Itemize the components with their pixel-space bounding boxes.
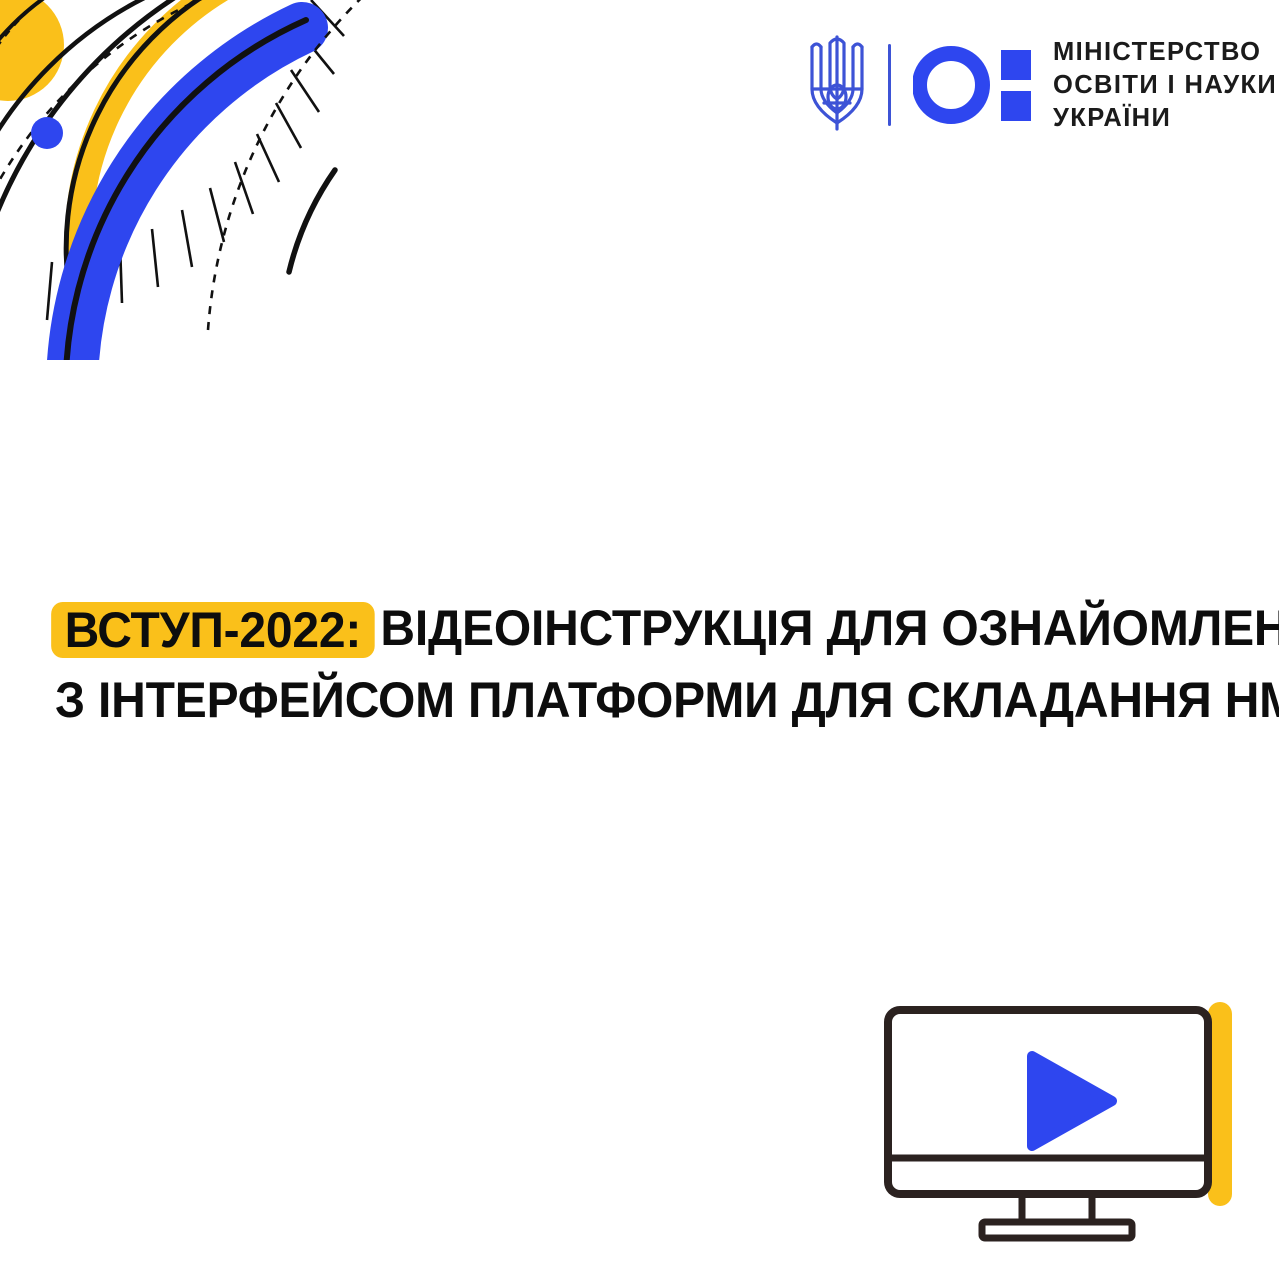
dashed-arc-outer bbox=[208, 0, 392, 330]
poster-canvas: МІНІСТЕРСТВО ОСВІТИ І НАУКИ УКРАЇНИ ВСТУ… bbox=[0, 0, 1279, 1280]
yellow-circle bbox=[0, 0, 64, 101]
blue-dot bbox=[31, 117, 63, 149]
dashed-arc-inner bbox=[0, 0, 172, 166]
headline-line-1-rest: ВІДЕОІНСТРУКЦІЯ ДЛЯ ОЗНАЙОМЛЕННЯ bbox=[380, 600, 1279, 656]
mark-ring bbox=[920, 54, 983, 117]
thin-arc-3 bbox=[0, 0, 190, 360]
logo-divider bbox=[888, 44, 891, 126]
thin-arc-over-yellow bbox=[66, 0, 244, 316]
thin-arc-2 bbox=[0, 0, 312, 330]
dashed-arc-middle bbox=[0, 0, 352, 360]
monitor-stand bbox=[982, 1222, 1132, 1238]
blue-thick-arc bbox=[72, 28, 302, 360]
mark-square-top bbox=[1001, 50, 1031, 80]
mark-square-bottom bbox=[1001, 91, 1031, 121]
ministry-line-3: УКРАЇНИ bbox=[1053, 102, 1277, 135]
headline-line-1: ВСТУП-2022:ВІДЕОІНСТРУКЦІЯ ДЛЯ ОЗНАЙОМЛЕ… bbox=[55, 592, 1188, 664]
yellow-thick-arc bbox=[78, 0, 236, 300]
thin-arc-1 bbox=[0, 0, 188, 200]
concentric-arcs-graphic bbox=[0, 0, 420, 360]
ministry-line-1: МІНІСТЕРСТВО bbox=[1053, 36, 1277, 69]
headline-highlight: ВСТУП-2022: bbox=[51, 602, 375, 658]
ministry-line-2: ОСВІТИ І НАУКИ bbox=[1053, 69, 1277, 102]
ukraine-trident-emblem-icon bbox=[806, 33, 868, 137]
mon-o-mark-icon bbox=[913, 42, 1031, 128]
monitor-play-icon bbox=[880, 998, 1252, 1250]
thin-arc-fragment bbox=[289, 170, 335, 272]
ministry-name: МІНІСТЕРСТВО ОСВІТИ І НАУКИ УКРАЇНИ bbox=[1053, 36, 1277, 135]
radial-tick-marks bbox=[47, 0, 344, 320]
decor-svg bbox=[0, 0, 420, 360]
headline-line-2: З ІНТЕРФЕЙСОМ ПЛАТФОРМИ ДЛЯ СКЛАДАННЯ НМ… bbox=[55, 664, 1188, 736]
ministry-logo-lockup: МІНІСТЕРСТВО ОСВІТИ І НАУКИ УКРАЇНИ bbox=[806, 33, 1277, 137]
thin-arc-over-blue bbox=[66, 20, 306, 360]
page-title: ВСТУП-2022:ВІДЕОІНСТРУКЦІЯ ДЛЯ ОЗНАЙОМЛЕ… bbox=[55, 592, 1235, 736]
